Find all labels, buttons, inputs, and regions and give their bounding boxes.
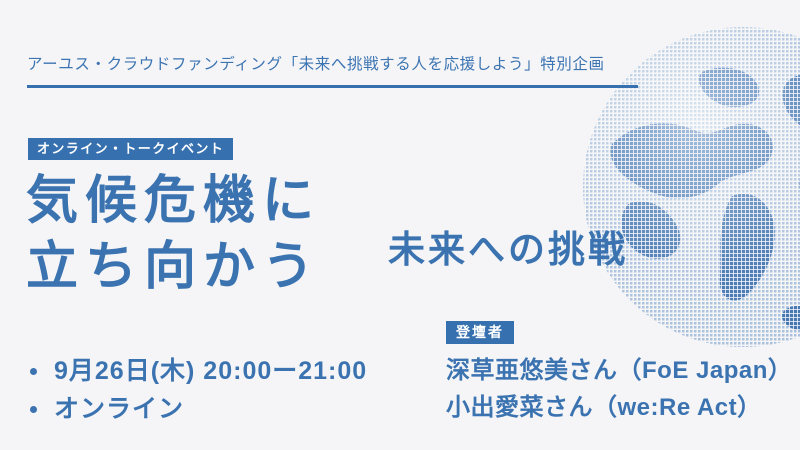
list-item: 小出愛菜さん（we:Re Act） [446,389,792,426]
page-title-line-2: 立ち向かう [26,234,321,300]
list-item: 9月26日(木) 20:00ー21:00 [28,352,367,390]
page-title: 気候危機に 立ち向かう [26,168,321,300]
event-poster: アーユス・クラウドファンディング「未来へ挑戦する人を応援しよう」特別企画 オンラ… [0,0,800,450]
speakers-list: 深草亜悠美さん（FoE Japan） 小出愛菜さん（we:Re Act） [446,352,792,426]
sub-headline: 未来への挑戦 [388,228,628,272]
status-badge-event-type: オンライン・トークイベント [28,138,233,160]
page-title-line-1: 気候危機に [26,168,321,234]
header-divider [27,85,638,88]
header-eyebrow-text: アーユス・クラウドファンディング「未来へ挑戦する人を応援しよう」特別企画 [27,55,727,75]
list-item: 深草亜悠美さん（FoE Japan） [446,352,792,389]
status-badge-speakers: 登壇者 [446,321,514,344]
header-block: アーユス・クラウドファンディング「未来へ挑戦する人を応援しよう」特別企画 [27,55,727,88]
event-details-list: 9月26日(木) 20:00ー21:00 オンライン [28,352,367,428]
list-item: オンライン [28,390,367,428]
